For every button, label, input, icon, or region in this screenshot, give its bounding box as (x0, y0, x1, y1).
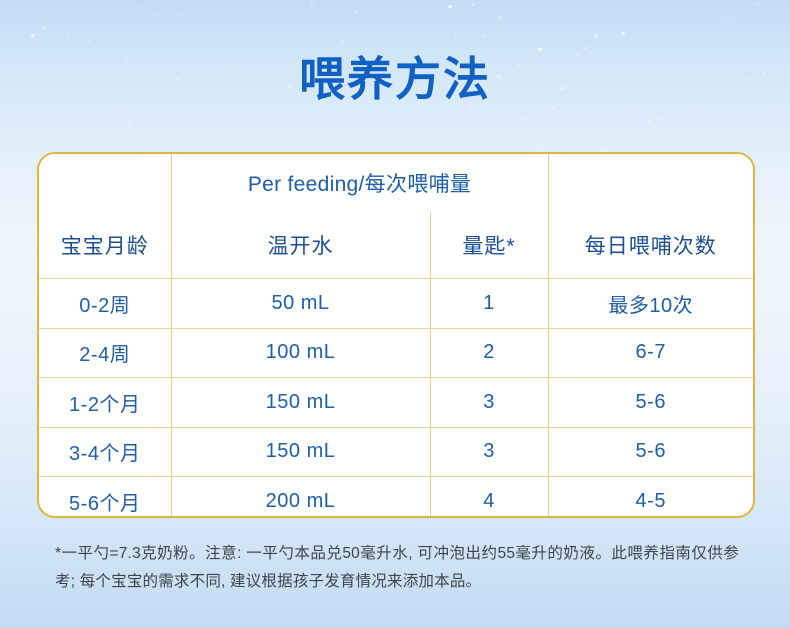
cell-water: 100 mL (171, 328, 430, 378)
group-header-blank-left (39, 154, 171, 212)
table-row: 5-6个月 200 mL 4 4-5 (39, 477, 753, 519)
cell-age: 3-4个月 (39, 427, 171, 477)
cell-water: 200 mL (171, 477, 430, 519)
cell-water: 150 mL (171, 378, 430, 428)
group-header-blank-right (548, 154, 753, 212)
table-group-header-row: Per feeding/每次喂哺量 (39, 154, 753, 212)
cell-feeds: 最多10次 (548, 279, 753, 329)
column-header-feeds-per-day: 每日喂哺次数 (548, 212, 753, 279)
cell-feeds: 6-7 (548, 328, 753, 378)
cell-age: 2-4周 (39, 328, 171, 378)
column-header-age: 宝宝月龄 (39, 212, 171, 279)
feeding-table-card: Per feeding/每次喂哺量 宝宝月龄 温开水 量匙* 每日喂哺次数 0-… (37, 152, 755, 518)
column-header-scoops: 量匙* (430, 212, 548, 279)
cell-scoops: 3 (430, 378, 548, 428)
feeding-table: Per feeding/每次喂哺量 宝宝月龄 温开水 量匙* 每日喂哺次数 0-… (39, 154, 753, 518)
table-header-row: 宝宝月龄 温开水 量匙* 每日喂哺次数 (39, 212, 753, 279)
column-header-water: 温开水 (171, 212, 430, 279)
cell-scoops: 1 (430, 279, 548, 329)
cell-feeds: 4-5 (548, 477, 753, 519)
cell-water: 50 mL (171, 279, 430, 329)
footnote-text: *一平勺=7.3克奶粉。注意: 一平勺本品兑50毫升水, 可冲泡出约55毫升的奶… (55, 540, 739, 596)
table-row: 1-2个月 150 mL 3 5-6 (39, 378, 753, 428)
page-title: 喂养方法 (0, 52, 790, 107)
table-row: 0-2周 50 mL 1 最多10次 (39, 279, 753, 329)
cell-scoops: 3 (430, 427, 548, 477)
table-row: 3-4个月 150 mL 3 5-6 (39, 427, 753, 477)
cell-water: 150 mL (171, 427, 430, 477)
cell-feeds: 5-6 (548, 378, 753, 428)
cell-scoops: 2 (430, 328, 548, 378)
table-row: 2-4周 100 mL 2 6-7 (39, 328, 753, 378)
cell-age: 1-2个月 (39, 378, 171, 428)
cell-age: 5-6个月 (39, 477, 171, 519)
cell-feeds: 5-6 (548, 427, 753, 477)
cell-scoops: 4 (430, 477, 548, 519)
cell-age: 0-2周 (39, 279, 171, 329)
group-header-per-feeding: Per feeding/每次喂哺量 (171, 154, 548, 212)
